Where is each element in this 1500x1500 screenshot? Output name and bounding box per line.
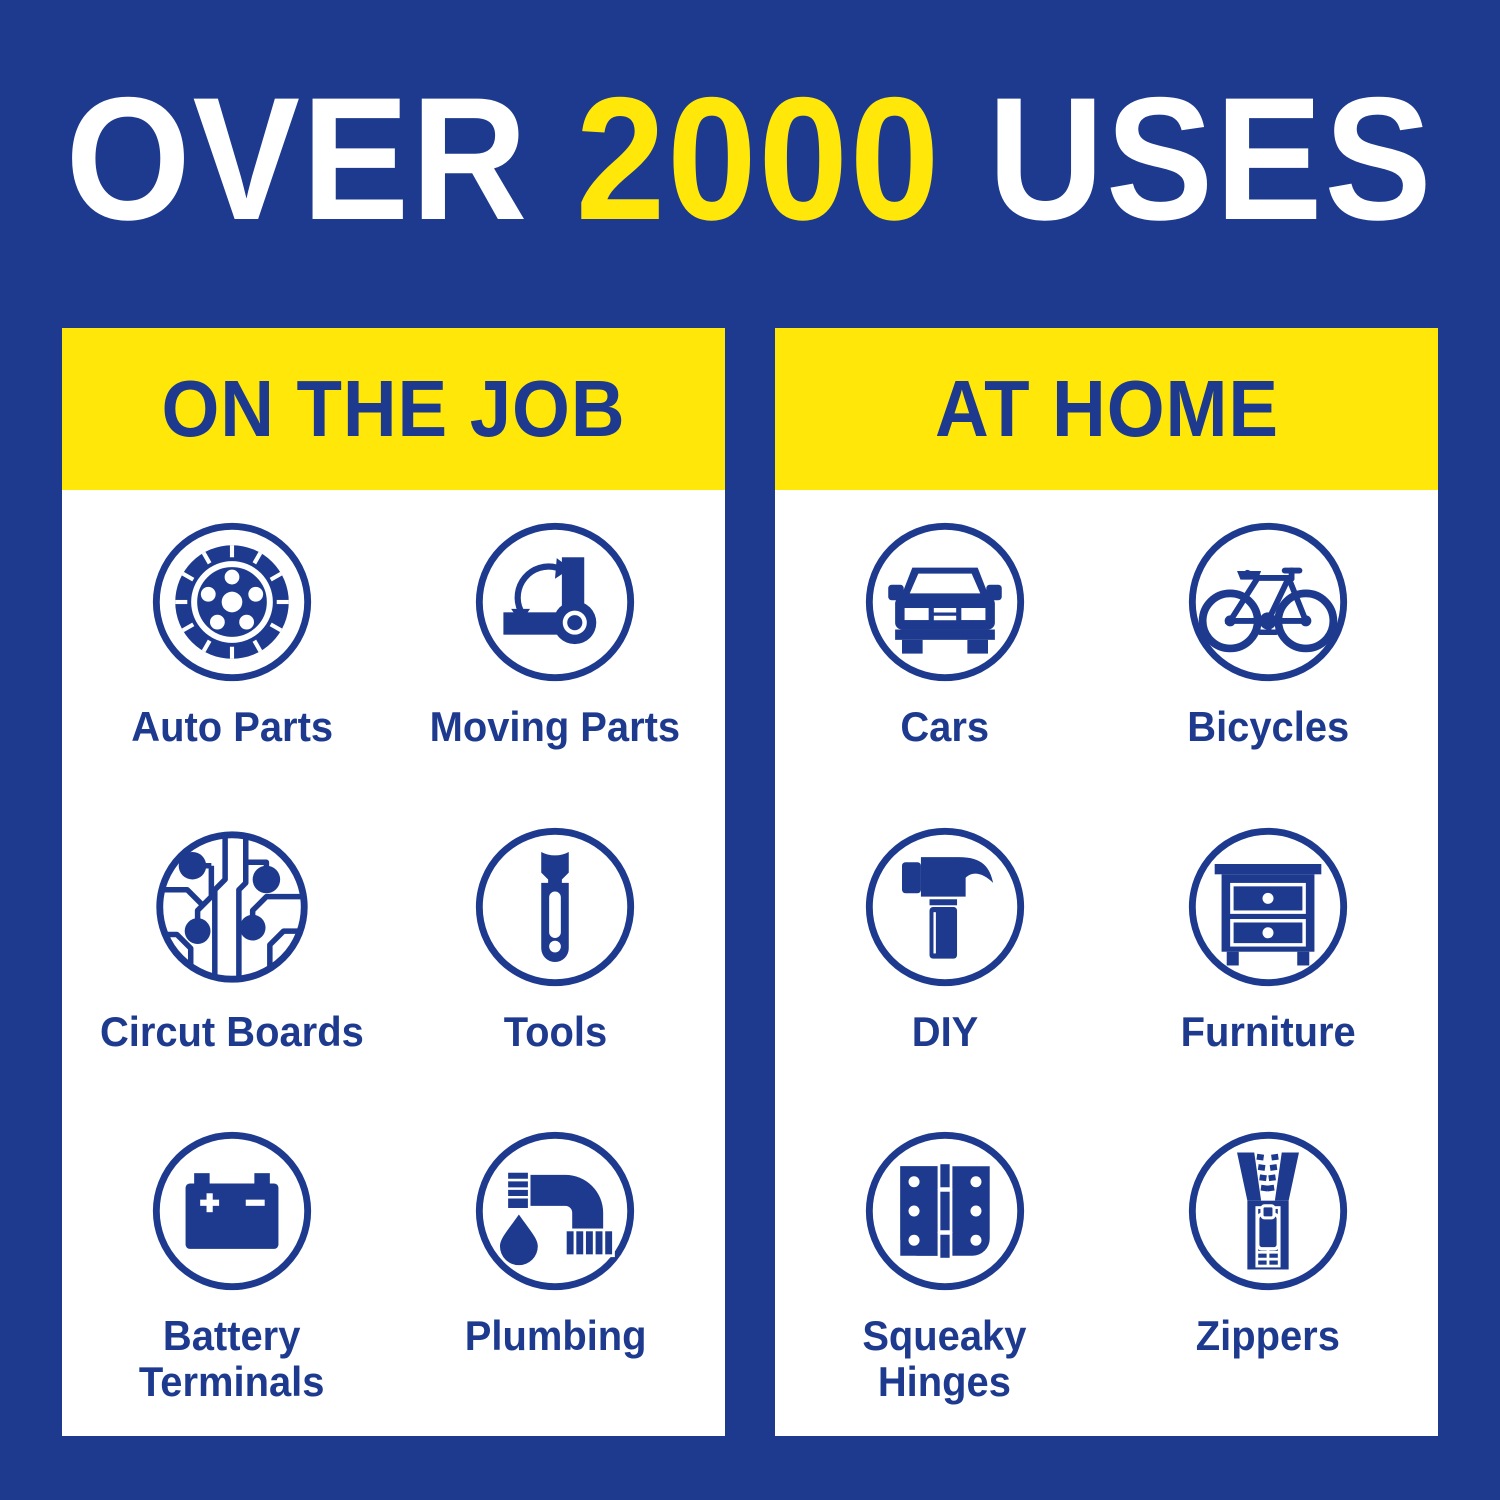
use-item-furniture[interactable]: Furniture <box>1107 813 1431 1118</box>
car-front-icon <box>859 516 1031 688</box>
panel-on-the-job: ON THE JOB <box>62 328 725 1436</box>
use-item-label: Auto Parts <box>131 704 333 749</box>
use-item-label: Cars <box>900 704 989 749</box>
use-item-moving-parts[interactable]: Moving Parts <box>394 508 718 813</box>
tire-icon <box>146 516 318 688</box>
panel-at-home: AT HOME <box>775 328 1438 1436</box>
car-battery-icon <box>146 1125 318 1297</box>
panel-header-label: ON THE JOB <box>161 369 625 449</box>
panel-header-label: AT HOME <box>934 369 1278 449</box>
wrench-icon <box>469 821 641 993</box>
poster-title: OVER 2000 USES <box>0 72 1500 247</box>
use-item-cars[interactable]: Cars <box>783 508 1107 813</box>
use-item-label: Squeaky Hinges <box>863 1313 1027 1404</box>
door-hinge-icon <box>859 1125 1031 1297</box>
title-highlight-number: 2000 <box>576 62 942 257</box>
pipe-elbow-icon <box>469 1125 641 1297</box>
use-item-label: Zippers <box>1196 1313 1340 1358</box>
use-item-bicycles[interactable]: Bicycles <box>1107 508 1431 813</box>
use-item-diy[interactable]: DIY <box>783 813 1107 1118</box>
bicycle-icon <box>1182 516 1354 688</box>
zipper-icon <box>1182 1125 1354 1297</box>
panel-header-at-home: AT HOME <box>775 328 1438 490</box>
nightstand-icon <box>1182 821 1354 993</box>
use-item-label: Furniture <box>1181 1009 1356 1054</box>
use-item-zippers[interactable]: Zippers <box>1107 1117 1431 1422</box>
use-item-label: Moving Parts <box>430 704 681 749</box>
use-item-label: Tools <box>504 1009 607 1054</box>
use-item-label: DIY <box>911 1009 978 1054</box>
use-item-squeaky-hinges[interactable]: Squeaky Hinges <box>783 1117 1107 1422</box>
use-item-tools[interactable]: Tools <box>394 813 718 1118</box>
use-item-label: Battery Terminals <box>139 1313 325 1404</box>
use-item-label: Circut Boards <box>100 1009 364 1054</box>
pivot-joint-icon <box>469 516 641 688</box>
use-item-auto-parts[interactable]: Auto Parts <box>70 508 394 813</box>
use-item-label: Plumbing <box>464 1313 646 1358</box>
panel-header-on-the-job: ON THE JOB <box>62 328 725 490</box>
panel-body-at-home: Cars <box>775 490 1438 1436</box>
title-part-1: OVER <box>66 62 576 257</box>
use-item-battery-terminals[interactable]: Battery Terminals <box>70 1117 394 1422</box>
use-item-circut-boards[interactable]: Circut Boards <box>70 813 394 1118</box>
title-part-2: USES <box>942 62 1434 257</box>
hammer-icon <box>859 821 1031 993</box>
use-item-plumbing[interactable]: Plumbing <box>394 1117 718 1422</box>
circuit-board-icon <box>146 821 318 993</box>
panel-body-on-the-job: Auto Parts Mo <box>62 490 725 1436</box>
use-item-label: Bicycles <box>1187 704 1349 749</box>
poster-canvas: OVER 2000 USES ON THE JOB <box>0 0 1500 1500</box>
